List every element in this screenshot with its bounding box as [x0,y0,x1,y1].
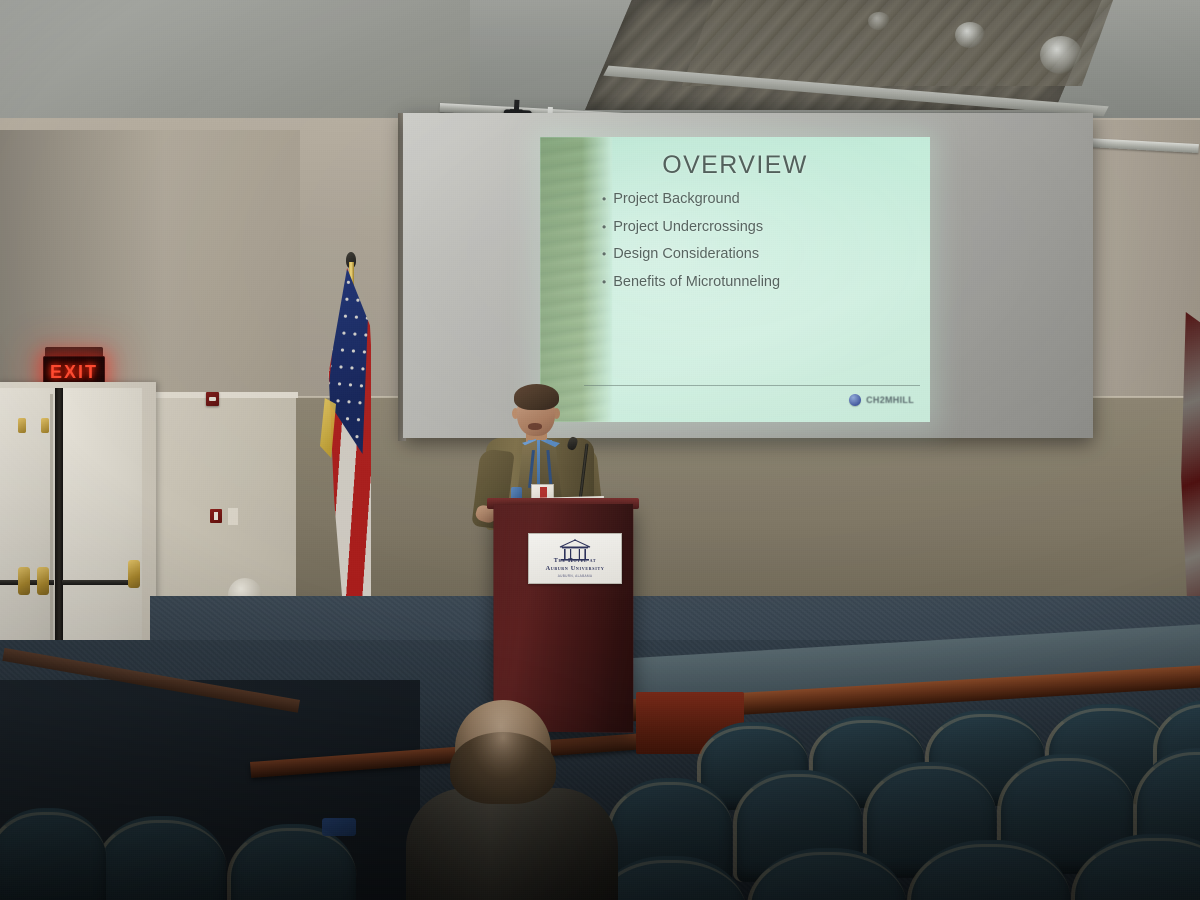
slide-title: OVERVIEW [540,151,930,180]
seat[interactable] [0,808,106,900]
panic-bar-end-icon [37,567,49,595]
door-hinge-icon [18,418,26,433]
panic-bar-end-icon [128,560,140,588]
seat[interactable] [98,816,226,900]
slide-bullet: Design Considerations [602,246,930,262]
slide-bullet: Project Background [602,191,930,207]
recessed-downlight-icon [868,12,890,30]
recessed-downlight-icon [1040,36,1082,74]
wall-pilaster-cap [148,392,298,398]
slide-bullet: Benefits of Microtunneling [602,274,930,290]
pavilion-icon [557,539,593,561]
audience-member [400,700,650,900]
podium-sign-line2: Auburn University [546,565,605,572]
door-hinge-icon [41,418,49,433]
fire-alarm-strobe-icon [206,392,219,406]
slide-bullet-list: Project Background Project Undercrossing… [602,191,930,301]
panic-bar-end-icon [18,567,30,595]
fire-alarm-pull-station-icon[interactable] [210,509,222,523]
auditorium-photo: OVERVIEW Project Background Project Unde… [0,0,1200,900]
speaker-mouth [528,423,542,430]
audience-hair [450,732,556,804]
podium-sign-line3: AUBURN, ALABAMA [558,574,593,578]
panic-bar-right[interactable] [62,580,138,585]
exit-sign-text: EXIT [50,362,98,383]
slide-bullet: Project Undercrossings [602,219,930,235]
slide-logo: CH2MHILL [849,392,914,408]
audience-item [322,818,356,836]
slide-logo-text: CH2MHILL [866,395,914,405]
podium-sign: The Hotel at Auburn University AUBURN, A… [528,533,622,584]
speaker-hair [514,384,559,410]
wall-plate [228,508,238,525]
slide-divider [584,385,920,386]
globe-icon [849,394,861,406]
audience-jacket-shading [406,788,618,900]
recessed-downlight-icon [955,22,985,48]
